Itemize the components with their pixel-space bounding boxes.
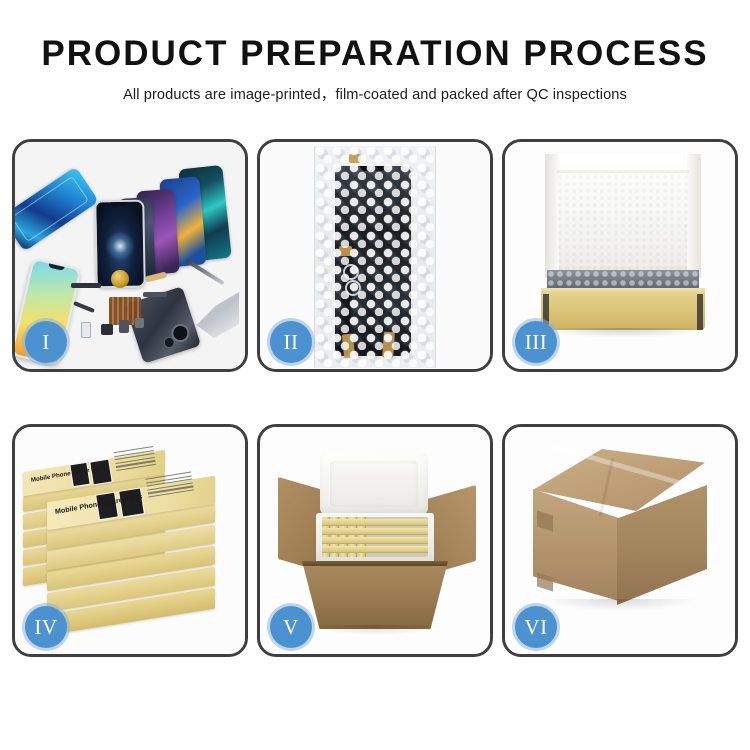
foam-lid-recess bbox=[330, 461, 418, 507]
foam-texture bbox=[557, 174, 689, 274]
flex-cable-part bbox=[71, 283, 101, 288]
yellow-box-flat bbox=[322, 537, 428, 544]
drop-shadow bbox=[545, 599, 695, 611]
drop-shadow bbox=[312, 625, 438, 635]
foam-lid-edge bbox=[687, 154, 701, 278]
foam-box-lid bbox=[320, 453, 428, 515]
bubble-wrap-bag bbox=[314, 146, 436, 368]
process-step-2[interactable]: II bbox=[257, 139, 493, 372]
step-badge-5: V bbox=[270, 606, 312, 648]
bubble-highlights bbox=[315, 146, 435, 368]
step-badge-3: III bbox=[515, 321, 557, 363]
small-component-part bbox=[135, 318, 144, 328]
phone-notch bbox=[111, 202, 128, 206]
small-component-part bbox=[119, 320, 129, 333]
process-step-grid: I II bbox=[12, 139, 738, 657]
small-component-part bbox=[81, 322, 91, 338]
carton-body bbox=[302, 561, 448, 629]
screen-wallpaper-burst bbox=[105, 230, 136, 261]
process-step-4[interactable]: Mobile Phone Spare Parts Mobile Phone Sp… bbox=[12, 424, 248, 657]
phone-notch bbox=[48, 263, 64, 270]
small-component-part bbox=[101, 324, 113, 335]
speaker-coil-part bbox=[111, 270, 129, 288]
step-badge-1: I bbox=[25, 321, 67, 363]
step-badge-2: II bbox=[270, 321, 312, 363]
carton-rim bbox=[302, 561, 448, 566]
boxes-inside-foam bbox=[322, 517, 428, 557]
box-tab bbox=[697, 294, 703, 330]
process-step-5[interactable]: V bbox=[257, 424, 493, 657]
drop-shadow bbox=[545, 328, 703, 338]
page-header: PRODUCT PREPARATION PROCESS All products… bbox=[0, 0, 750, 104]
yellow-box-flat bbox=[322, 519, 428, 526]
inner-box-front bbox=[541, 294, 705, 330]
process-step-3[interactable]: III bbox=[502, 139, 738, 372]
yellow-box-flat bbox=[322, 546, 428, 553]
yellow-box-flat bbox=[322, 528, 428, 535]
step-badge-4: IV bbox=[25, 606, 67, 648]
foam-lid-crease bbox=[557, 170, 689, 173]
process-step-1[interactable]: I bbox=[12, 139, 248, 372]
foam-lid bbox=[545, 154, 701, 278]
page-subtitle: All products are image-printed，film-coat… bbox=[0, 83, 750, 104]
process-step-6[interactable]: VI bbox=[502, 424, 738, 657]
connector-part bbox=[143, 292, 167, 297]
step-badge-6: VI bbox=[515, 606, 557, 648]
page-title: PRODUCT PREPARATION PROCESS bbox=[0, 36, 750, 71]
